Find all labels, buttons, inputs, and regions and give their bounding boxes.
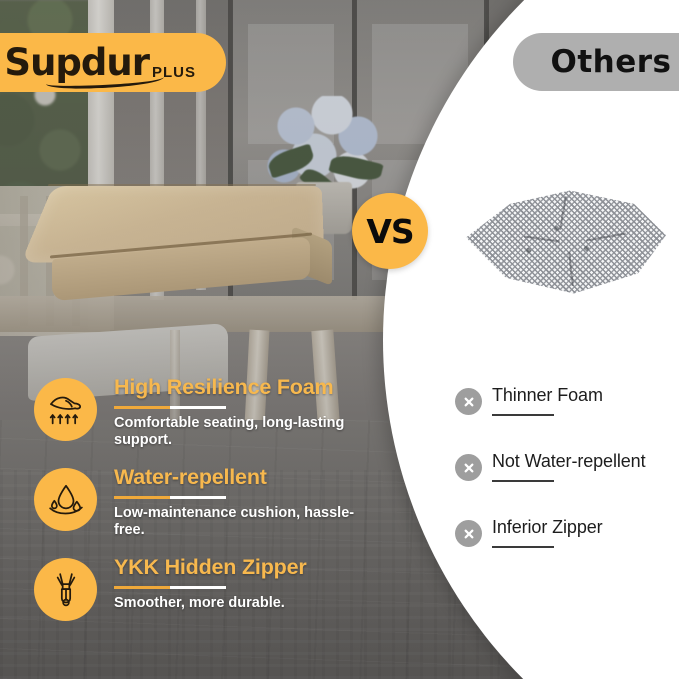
- feature-text: Water-repellent Low-maintenance cushion,…: [114, 466, 384, 539]
- divider-white-half: [170, 406, 226, 409]
- con-item: Not Water-repellent: [455, 454, 675, 520]
- cushion-top-piping: [48, 184, 316, 186]
- feature-title: Water-repellent: [114, 466, 384, 490]
- cushion-tuft: [526, 248, 531, 253]
- brand-logo: Supdur PLUS: [4, 44, 196, 81]
- feature-title: High Resilience Foam: [114, 376, 384, 400]
- divider-amber-half: [114, 496, 170, 499]
- divider-amber-half: [114, 406, 170, 409]
- feature-list: High Resilience Foam Comfortable seating…: [34, 376, 384, 646]
- con-item: Thinner Foam: [455, 388, 675, 454]
- con-divider: [492, 480, 554, 482]
- con-divider: [492, 414, 554, 416]
- feature-item: YKK Hidden Zipper Smoother, more durable…: [34, 556, 384, 646]
- con-item: Inferior Zipper: [455, 520, 675, 586]
- divider-white-half: [170, 586, 226, 589]
- divider-amber-half: [114, 586, 170, 589]
- cushion-tuft: [554, 226, 559, 231]
- feature-divider: [114, 586, 226, 589]
- comparison-infographic: Supdur PLUS Others VS: [0, 0, 679, 679]
- x-circle-icon: [455, 454, 482, 481]
- con-divider: [492, 546, 554, 548]
- con-label: Inferior Zipper: [492, 517, 603, 539]
- feature-divider: [114, 406, 226, 409]
- zipper-icon: [34, 558, 97, 621]
- our-cushion-image: [30, 176, 330, 302]
- feature-item: Water-repellent Low-maintenance cushion,…: [34, 466, 384, 556]
- feature-subtitle: Comfortable seating, long-lasting suppor…: [114, 415, 384, 450]
- feature-text: High Resilience Foam Comfortable seating…: [114, 376, 384, 449]
- divider-white-half: [170, 496, 226, 499]
- brand-logo-pill: Supdur PLUS: [0, 33, 226, 92]
- con-text: Inferior Zipper: [492, 517, 603, 548]
- feature-title: YKK Hidden Zipper: [114, 556, 384, 580]
- vs-label: VS: [366, 212, 413, 251]
- con-label: Thinner Foam: [492, 385, 603, 407]
- competitor-cushion-image: [466, 186, 666, 298]
- vs-badge: VS: [352, 193, 428, 269]
- feature-divider: [114, 496, 226, 499]
- x-circle-icon: [455, 388, 482, 415]
- feature-item: High Resilience Foam Comfortable seating…: [34, 376, 384, 466]
- thin-cushion-body: [466, 186, 666, 298]
- others-label: Others: [550, 44, 671, 80]
- con-label: Not Water-repellent: [492, 451, 646, 473]
- feature-text: YKK Hidden Zipper Smoother, more durable…: [114, 556, 384, 612]
- water-droplet-repellent-icon: [34, 468, 97, 531]
- hand-press-foam-icon: [34, 378, 97, 441]
- x-circle-icon: [455, 520, 482, 547]
- con-text: Thinner Foam: [492, 385, 603, 416]
- feature-subtitle: Low-maintenance cushion, hassle-free.: [114, 505, 384, 540]
- others-pill: Others: [513, 33, 679, 91]
- cons-list: Thinner Foam Not Water-repellent: [455, 388, 675, 586]
- feature-subtitle: Smoother, more durable.: [114, 595, 384, 612]
- con-text: Not Water-repellent: [492, 451, 646, 482]
- cushion-tuft: [584, 246, 589, 251]
- logo-swoosh-icon: [46, 71, 164, 90]
